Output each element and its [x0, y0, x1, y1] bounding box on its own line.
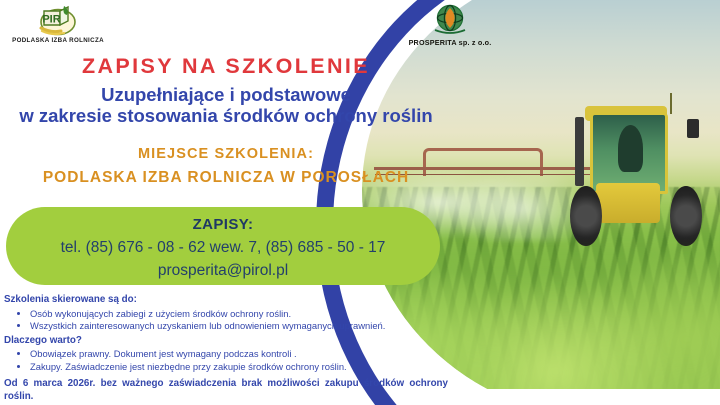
- tractor-antenna: [670, 93, 672, 114]
- tractor-hood: [596, 183, 660, 223]
- prosperita-globe-emblem-icon: [430, 3, 470, 37]
- subheadline-line-2: w zakresie stosowania środków ochrony ro…: [0, 105, 452, 126]
- venue-place: PODLASKA IZBA ROLNICZA W POROSŁACH: [0, 169, 452, 187]
- logo-podlaska-izba-rolnicza: PIR PODLASKA IZBA ROLNICZA: [6, 3, 110, 44]
- subheadline-line-1: Uzupełniające i podstawowe: [0, 84, 452, 105]
- subheadline: Uzupełniające i podstawowe w zakresie st…: [0, 84, 452, 126]
- why-list: Obowiązek prawny. Dokument jest wymagany…: [4, 348, 456, 373]
- tractor-wheel-right: [670, 186, 702, 247]
- signup-email[interactable]: prosperita@pirol.pl: [6, 262, 440, 280]
- list-item: Osób wykonujących zabiegi z użyciem środ…: [30, 308, 456, 321]
- info-block: Szkolenia skierowane są do: Osób wykonuj…: [4, 294, 456, 403]
- svg-text:PIR: PIR: [42, 14, 60, 26]
- podlaska-izba-rolnicza-emblem-icon: PIR: [34, 3, 82, 36]
- audience-list: Osób wykonujących zabiegi z użyciem środ…: [4, 308, 456, 333]
- list-item: Zakupy. Zaświadczenie jest niezbędne prz…: [30, 361, 456, 374]
- venue-label: MIEJSCE SZKOLENIA:: [0, 146, 452, 162]
- deadline-note: Od 6 marca 2026r. bez ważnego zaświadcze…: [4, 377, 448, 403]
- tractor-mirror: [687, 119, 699, 138]
- signup-title: ZAPISY:: [6, 216, 440, 233]
- audience-header: Szkolenia skierowane są do:: [4, 294, 456, 307]
- headline: ZAPISY NA SZKOLENIE: [0, 54, 452, 79]
- logo-prosperita: PROSPERITA sp. z o.o.: [390, 3, 510, 47]
- venue-block: MIEJSCE SZKOLENIA: PODLASKA IZBA ROLNICZ…: [0, 146, 452, 187]
- signup-box: ZAPISY: tel. (85) 676 - 08 - 62 wew. 7, …: [6, 207, 440, 285]
- logo-left-caption: PODLASKA IZBA ROLNICZA: [6, 37, 110, 44]
- tractor-exhaust: [575, 117, 583, 186]
- tractor-icon: [540, 109, 709, 241]
- signup-phones[interactable]: tel. (85) 676 - 08 - 62 wew. 7, (85) 685…: [6, 239, 440, 257]
- tractor-wheel-left: [570, 186, 602, 247]
- list-item: Wszystkich zainteresowanych uzyskaniem l…: [30, 320, 456, 333]
- tractor-driver: [618, 125, 643, 173]
- logo-right-caption: PROSPERITA sp. z o.o.: [390, 38, 510, 47]
- list-item: Obowiązek prawny. Dokument jest wymagany…: [30, 348, 456, 361]
- why-header: Dlaczego warto?: [4, 335, 456, 348]
- poster: PIR PODLASKA IZBA ROLNICZA PROSPERITA sp…: [0, 0, 720, 405]
